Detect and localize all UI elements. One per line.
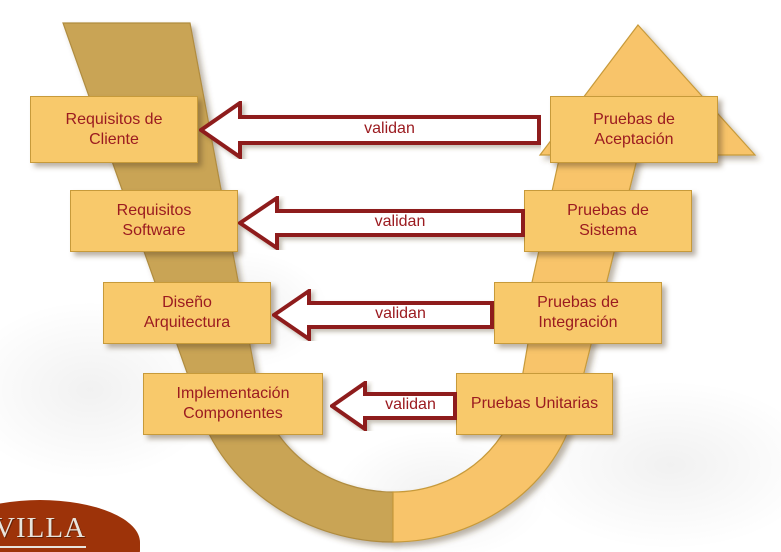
box-diseno-arquitectura[interactable]: Diseño Arquitectura — [103, 282, 271, 344]
v-model-diagram-canvas: Requisitos de Cliente Requisitos Softwar… — [0, 0, 781, 552]
box-requisitos-software[interactable]: Requisitos Software — [70, 190, 238, 252]
validan-arrow-aceptacion: validan — [199, 101, 541, 159]
box-implementacion-componentes[interactable]: Implementación Componentes — [143, 373, 323, 435]
box-pruebas-sistema[interactable]: Pruebas de Sistema — [524, 190, 692, 252]
institution-logo: VILLA — [0, 500, 140, 552]
validan-arrow-integracion: validan — [272, 289, 494, 341]
box-requisitos-cliente[interactable]: Requisitos de Cliente — [30, 96, 198, 163]
v-shape-band — [0, 0, 781, 552]
box-pruebas-integracion[interactable]: Pruebas de Integración — [494, 282, 662, 344]
validan-arrow-unitarias: validan — [330, 381, 457, 431]
validan-arrow-sistema: validan — [238, 196, 525, 250]
background-watermark — [330, 430, 550, 552]
box-pruebas-unitarias[interactable]: Pruebas Unitarias — [456, 373, 613, 435]
institution-logo-text: VILLA — [0, 512, 86, 548]
box-pruebas-aceptacion[interactable]: Pruebas de Aceptación — [550, 96, 718, 163]
